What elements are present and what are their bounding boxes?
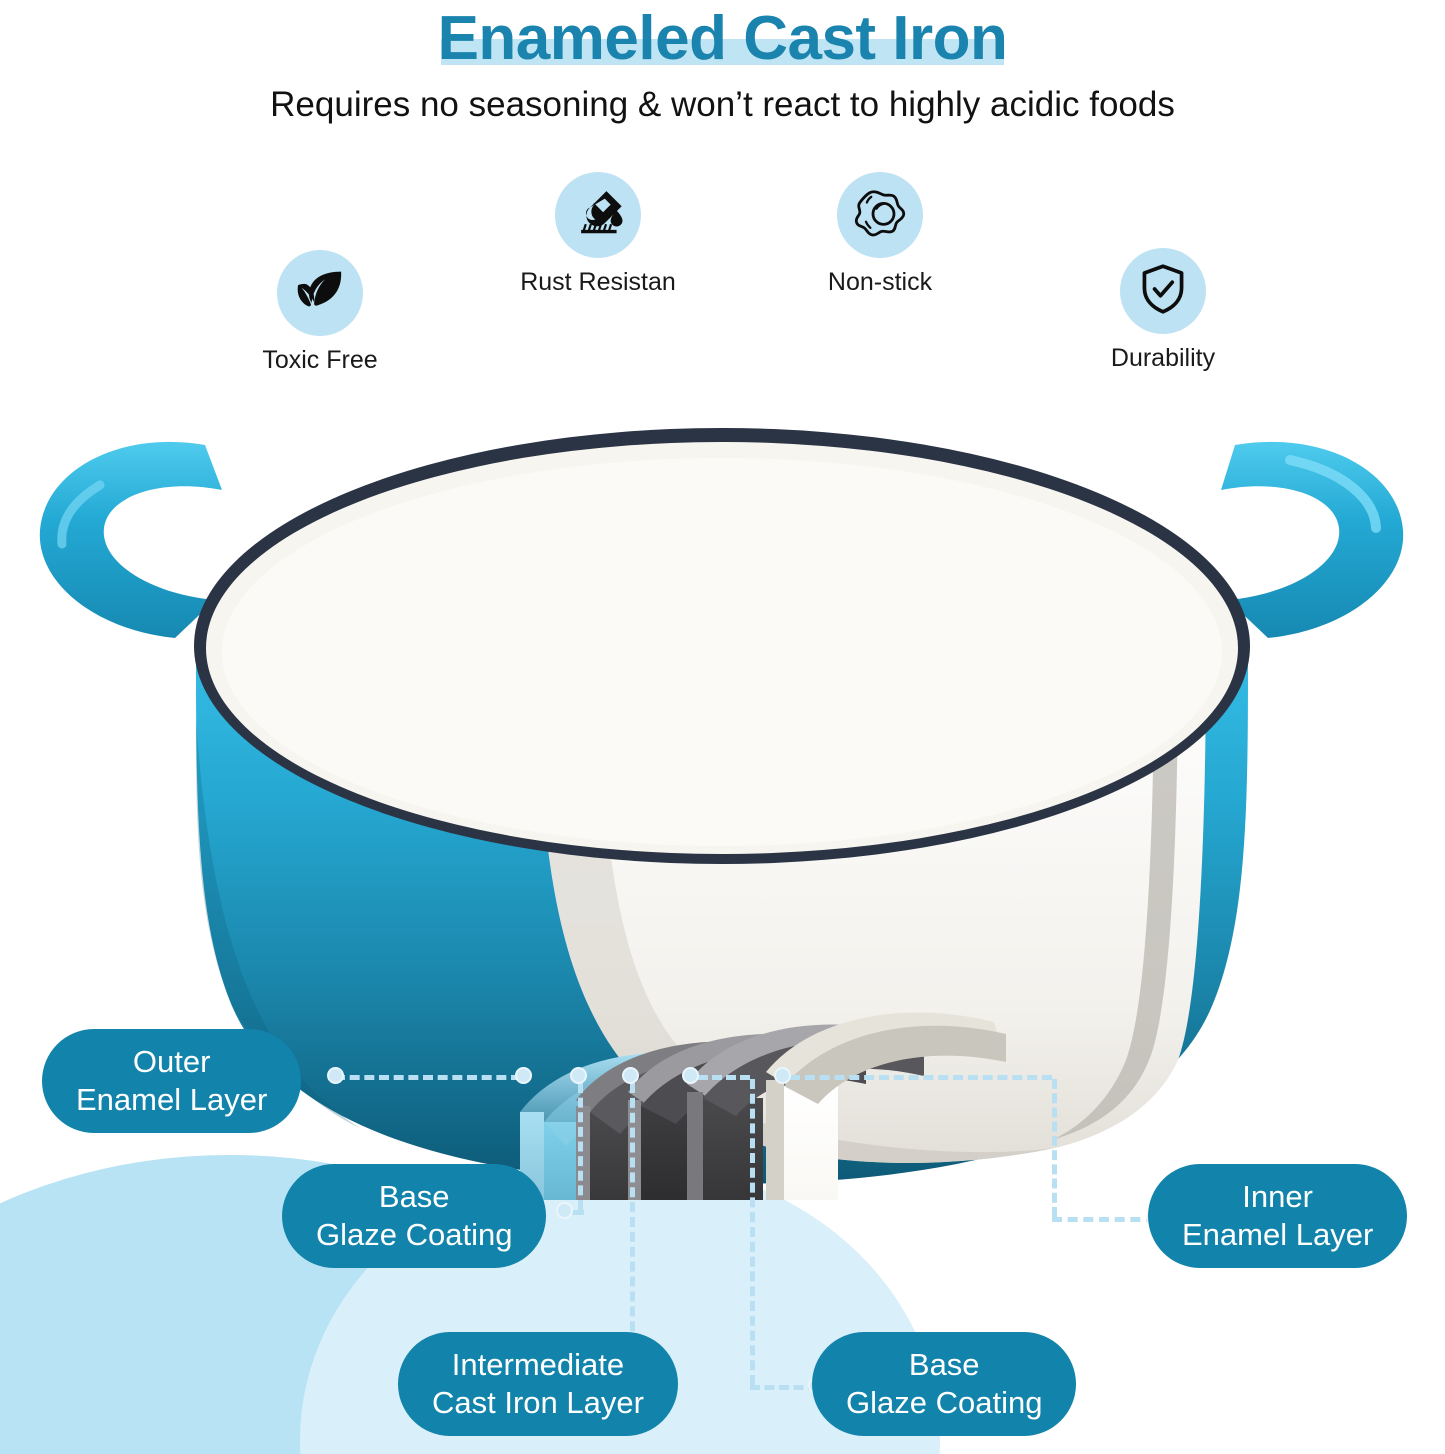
callout-line-2: Enamel Layer: [76, 1081, 267, 1119]
pot-handle-left: [40, 442, 222, 638]
callout-base-glaze-coating-bottom[interactable]: Base Glaze Coating: [812, 1332, 1076, 1436]
feature-label: Rust Resistan: [483, 268, 713, 297]
page-subtitle: Requires no seasoning & won’t react to h…: [0, 85, 1445, 125]
feature-icon-badge: [555, 172, 641, 258]
page-title-wrapper: Enameled Cast Iron: [438, 6, 1008, 71]
callout-outer-enamel-layer[interactable]: Outer Enamel Layer: [42, 1029, 301, 1133]
callout-line-2: Enamel Layer: [1182, 1216, 1373, 1254]
connector-line-inner-elbow: [1052, 1217, 1156, 1222]
feature-icon-badge: [837, 172, 923, 258]
callout-line-1: Outer: [133, 1044, 211, 1079]
callout-line-2: Glaze Coating: [846, 1384, 1042, 1422]
feature-label: Non-stick: [765, 268, 995, 297]
test-tube-droplet-icon: [571, 186, 625, 245]
callout-line-1: Base: [379, 1179, 450, 1214]
callout-line-1: Inner: [1242, 1179, 1313, 1214]
feature-rust-resistan: Rust Resistan: [483, 172, 713, 297]
feature-non-stick: Non-stick: [765, 172, 995, 297]
callout-intermediate-cast-iron-layer[interactable]: Intermediate Cast Iron Layer: [398, 1332, 678, 1436]
callout-line-1: Base: [909, 1347, 980, 1382]
callout-base-glaze-coating-left[interactable]: Base Glaze Coating: [282, 1164, 546, 1268]
callout-line-1: Intermediate: [452, 1347, 624, 1382]
callout-line-2: Cast Iron Layer: [432, 1384, 644, 1422]
header: Enameled Cast Iron Requires no seasoning…: [0, 0, 1445, 125]
fried-egg-icon: [852, 185, 908, 246]
infographic-canvas: Enameled Cast Iron Requires no seasoning…: [0, 0, 1445, 1454]
callout-inner-enamel-layer[interactable]: Inner Enamel Layer: [1148, 1164, 1407, 1268]
pot-handle-right: [1221, 442, 1403, 638]
page-title: Enameled Cast Iron: [438, 6, 1008, 71]
callout-line-2: Glaze Coating: [316, 1216, 512, 1254]
